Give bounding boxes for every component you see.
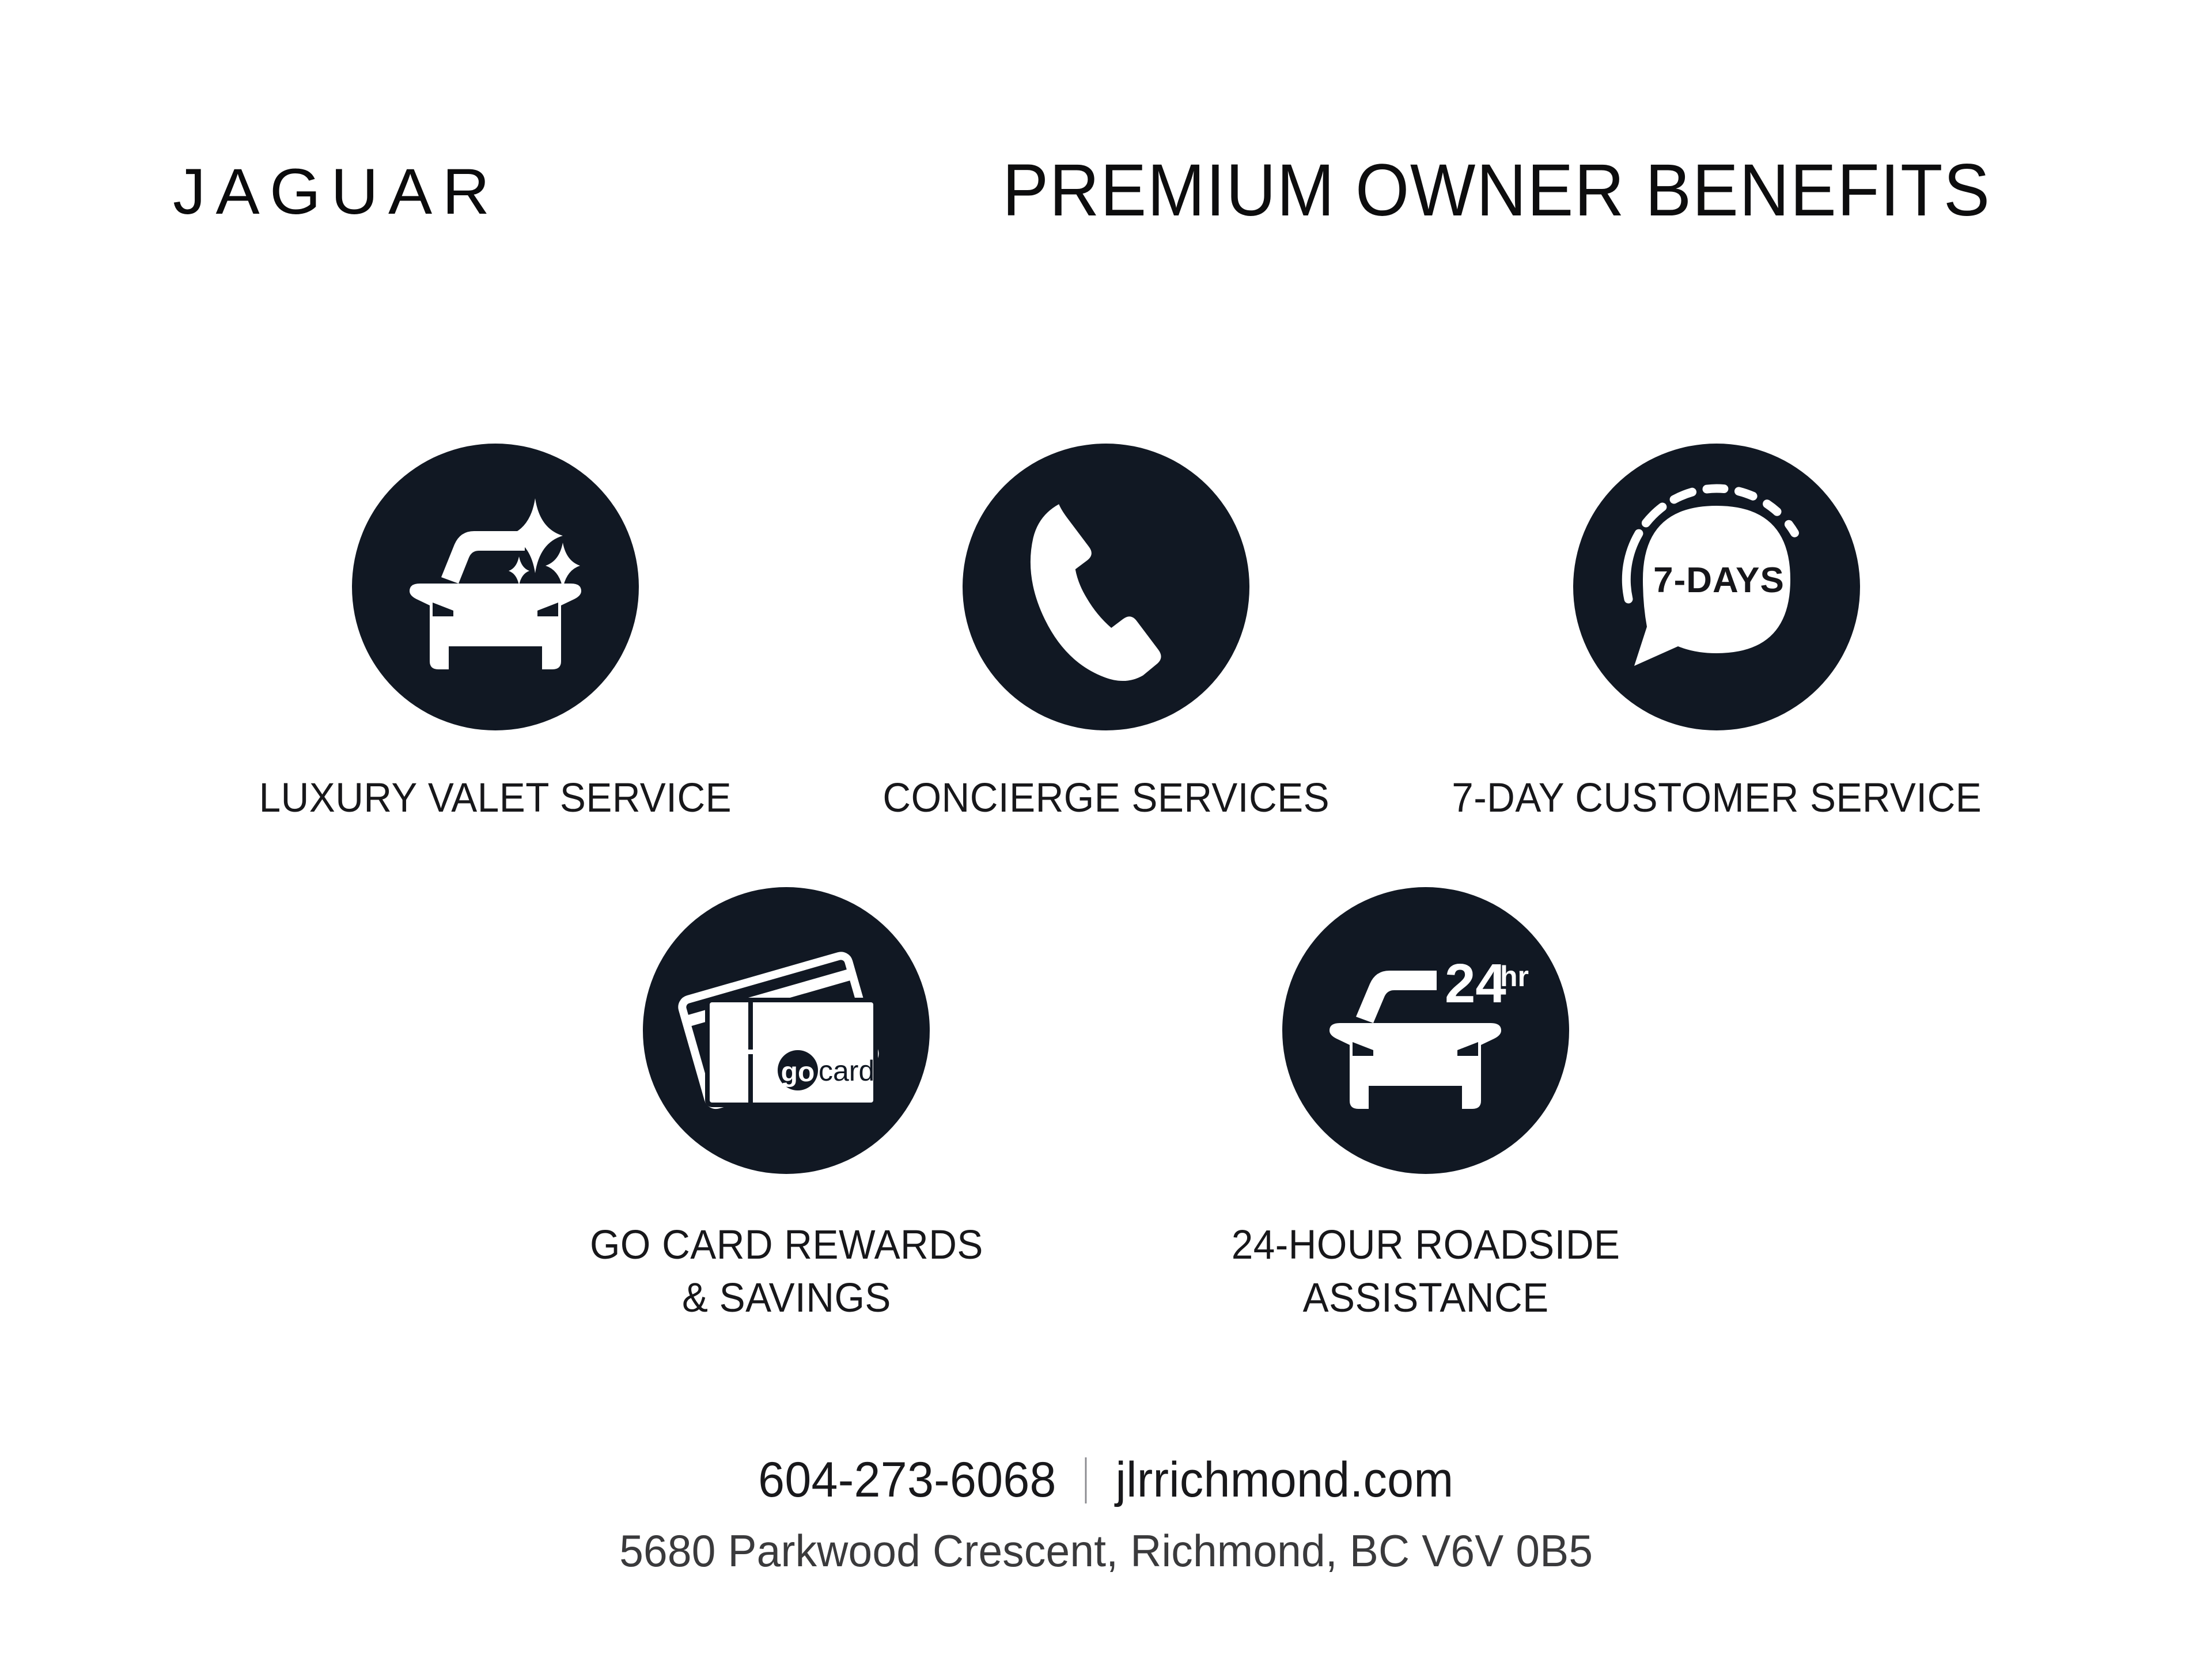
benefit-label: GO CARD REWARDS & SAVINGS: [590, 1219, 983, 1325]
icon-text-24: 24: [1445, 953, 1506, 1014]
icon-text-7days: 7-DAYS: [1653, 560, 1785, 600]
car-sparkle-icon: [352, 444, 639, 730]
icon-text-hr: hr: [1500, 960, 1529, 993]
icon-circle: 7-DAYS: [1573, 444, 1860, 730]
benefit-label: 24-HOUR ROADSIDE ASSISTANCE: [1232, 1219, 1620, 1325]
jaguar-wordmark: JAGUAR: [173, 160, 499, 224]
benefit-concierge-services: CONCIERGE SERVICES: [801, 444, 1411, 825]
website-link[interactable]: jlrrichmond.com: [1116, 1452, 1454, 1509]
phone-number[interactable]: 604-273-6068: [758, 1452, 1056, 1509]
icon-text-go: go: [781, 1057, 815, 1088]
benefits-row-top: LUXURY VALET SERVICE CONCIERGE SERVICES: [0, 444, 2212, 825]
header: JAGUAR PREMIUM OWNER BENEFITS: [0, 147, 2212, 239]
speech-bubble-7days-icon: 7-DAYS: [1573, 444, 1860, 730]
icon-circle: 24 hr: [1282, 887, 1569, 1174]
footer-primary-line: 604-273-6068 jlrrichmond.com: [758, 1452, 1453, 1509]
icon-circle: [963, 444, 1249, 730]
credit-cards-gocard-icon: go card: [643, 887, 930, 1174]
benefit-label: LUXURY VALET SERVICE: [259, 772, 732, 825]
benefit-label: 7-DAY CUSTOMER SERVICE: [1452, 772, 1982, 825]
car-24hr-icon: 24 hr: [1282, 887, 1569, 1174]
benefit-go-card-rewards: go card GO CARD REWARDS & SAVINGS: [467, 887, 1106, 1325]
phone-handset-icon: [963, 444, 1249, 730]
benefit-label: CONCIERGE SERVICES: [882, 772, 1330, 825]
benefit-7-day-customer-service: 7-DAYS 7-DAY CUSTOMER SERVICE: [1411, 444, 2022, 825]
icon-circle: [352, 444, 639, 730]
benefit-luxury-valet-service: LUXURY VALET SERVICE: [190, 444, 801, 825]
footer-contact: 604-273-6068 jlrrichmond.com 5680 Parkwo…: [0, 1452, 2212, 1577]
benefit-24-hour-roadside-assistance: 24 hr 24-HOUR ROADSIDE ASSISTANCE: [1106, 887, 1745, 1325]
poster-canvas: JAGUAR PREMIUM OWNER BENEFITS: [0, 0, 2212, 1659]
icon-circle: go card: [643, 887, 930, 1174]
street-address: 5680 Parkwood Crescent, Richmond, BC V6V…: [619, 1525, 1593, 1577]
icon-text-card: card: [819, 1055, 874, 1087]
benefits-row-bottom: go card GO CARD REWARDS & SAVINGS: [0, 887, 2212, 1325]
footer-divider: [1085, 1457, 1087, 1503]
page-title: PREMIUM OWNER BENEFITS: [1002, 147, 1991, 234]
